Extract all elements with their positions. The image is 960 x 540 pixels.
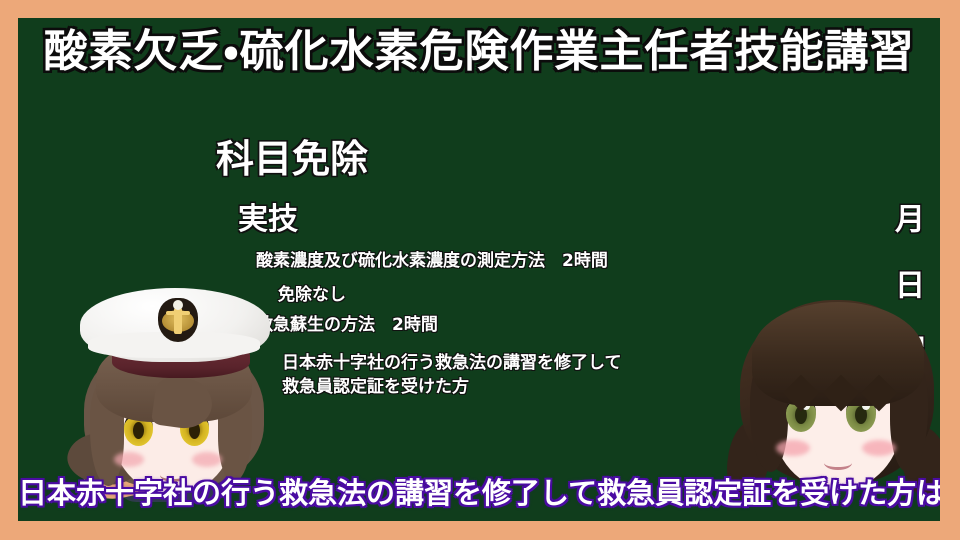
body-line-red-cross-condition: 日本赤十字社の行う救急法の講習を修了して 救急員認定証を受けた方 bbox=[282, 351, 622, 399]
avatar-left-pupil-l bbox=[133, 422, 144, 439]
avatar-naval-cap-girl bbox=[60, 286, 290, 501]
avatar-left-blush-r bbox=[192, 452, 222, 467]
avatar-right-blush-l bbox=[776, 440, 810, 456]
avatar-right-mouth bbox=[824, 456, 852, 470]
avatar-left-blush-l bbox=[114, 452, 144, 467]
section-heading-exemption: 科目免除 bbox=[216, 136, 368, 182]
subsection-heading-practical: 実技 bbox=[238, 201, 298, 239]
anchor-icon bbox=[174, 308, 182, 334]
page-title: 酸素欠乏・硫化水素危険作業主任者技能講習 bbox=[28, 24, 930, 80]
star-icon bbox=[173, 300, 183, 310]
body-line-measurement-method: 酸素濃度及び硫化水素濃度の測定方法 2時間 bbox=[256, 249, 608, 273]
slide-canvas: 酸素欠乏・硫化水素危険作業主任者技能講習 科目免除 実技 酸素濃度及び硫化水素濃… bbox=[0, 0, 960, 540]
chalkboard-panel: 酸素欠乏・硫化水素危険作業主任者技能講習 科目免除 実技 酸素濃度及び硫化水素濃… bbox=[18, 18, 940, 521]
avatar-right-blush-r bbox=[862, 440, 896, 456]
subtitle-caption: 日本赤十字社の行う救急法の講習を修了して救急員認定証を受けた方は bbox=[18, 473, 940, 513]
